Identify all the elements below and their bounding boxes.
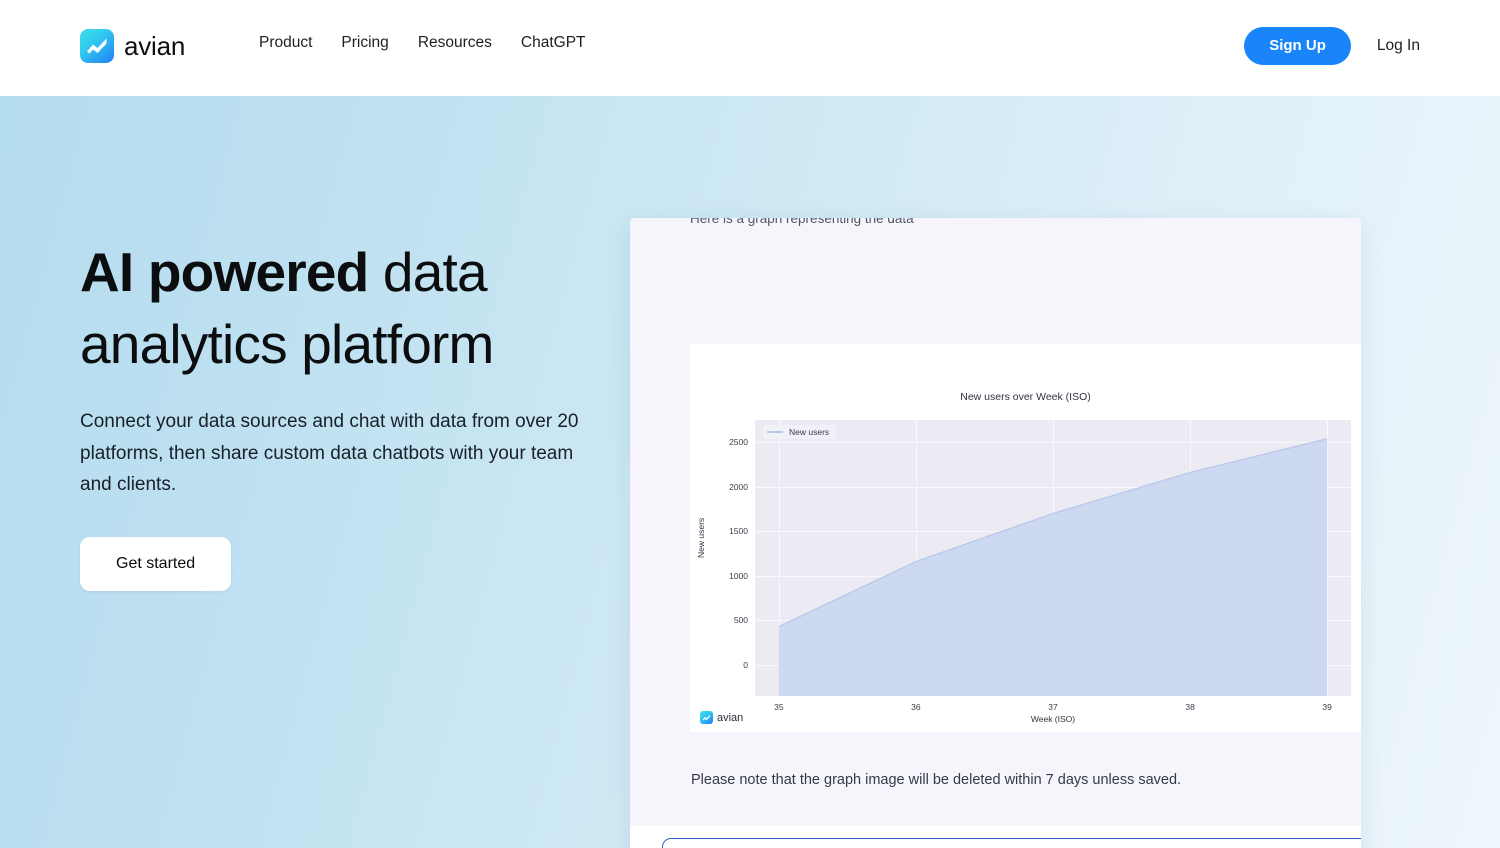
page-title: AI powered data analytics platform xyxy=(80,236,640,380)
chat-input-bar xyxy=(630,826,1361,848)
watermark-label: avian xyxy=(717,712,743,724)
chart-legend: New users xyxy=(763,425,836,439)
chart-watermark: avian xyxy=(700,711,743,724)
avian-logo-icon xyxy=(700,711,713,724)
x-tick: 38 xyxy=(1185,702,1194,712)
x-tick: 37 xyxy=(1048,702,1057,712)
nav-actions: Sign Up Log In xyxy=(1244,27,1420,65)
brand-name: avian xyxy=(124,31,185,62)
legend-label-new-users: New users xyxy=(789,427,829,437)
legend-swatch-new-users xyxy=(767,431,783,433)
chart-y-ticks: 2500 2000 1500 1000 500 0 xyxy=(690,420,748,696)
top-navbar: avian Product Pricing Resources ChatGPT … xyxy=(0,0,1500,96)
get-started-button[interactable]: Get started xyxy=(80,537,231,591)
chart-title: New users over Week (ISO) xyxy=(690,391,1361,403)
chat-input-wrapper[interactable] xyxy=(662,838,1361,848)
nav-link-resources[interactable]: Resources xyxy=(418,34,521,52)
brand-logo[interactable]: avian xyxy=(80,29,185,63)
y-tick: 500 xyxy=(688,615,748,625)
y-tick: 1000 xyxy=(688,571,748,581)
nav-link-product[interactable]: Product xyxy=(259,34,341,52)
clipped-assistant-message: Here is a graph representing the data xyxy=(690,218,914,226)
sign-up-button[interactable]: Sign Up xyxy=(1244,27,1351,65)
log-in-link[interactable]: Log In xyxy=(1377,37,1420,55)
chart-card: New users over Week (ISO) New users 2500… xyxy=(690,344,1361,732)
primary-nav: Product Pricing Resources ChatGPT xyxy=(259,34,615,52)
preview-chat-surface: Here is a graph representing the data Ne… xyxy=(630,218,1361,848)
y-tick: 2000 xyxy=(688,482,748,492)
x-tick: 39 xyxy=(1322,702,1331,712)
headline-emphasis: AI powered xyxy=(80,241,368,303)
hero-section: AI powered data analytics platform Conne… xyxy=(0,96,1500,848)
nav-link-chatgpt[interactable]: ChatGPT xyxy=(521,34,615,52)
hero-copy: AI powered data analytics platform Conne… xyxy=(80,236,640,591)
chart-area-series xyxy=(755,420,1351,696)
y-tick: 2500 xyxy=(688,437,748,447)
y-tick: 1500 xyxy=(688,526,748,536)
x-tick: 36 xyxy=(911,702,920,712)
app-preview-panel: Here is a graph representing the data Ne… xyxy=(630,218,1361,848)
y-tick: 0 xyxy=(688,660,748,670)
avian-logo-icon xyxy=(80,29,114,63)
graph-retention-note: Please note that the graph image will be… xyxy=(691,772,1181,788)
x-tick: 35 xyxy=(774,702,783,712)
chart-x-axis-label: Week (ISO) xyxy=(755,714,1351,724)
nav-link-pricing[interactable]: Pricing xyxy=(341,34,417,52)
chart-plot-area: New users xyxy=(755,420,1351,696)
hero-subhead: Connect your data sources and chat with … xyxy=(80,406,600,501)
